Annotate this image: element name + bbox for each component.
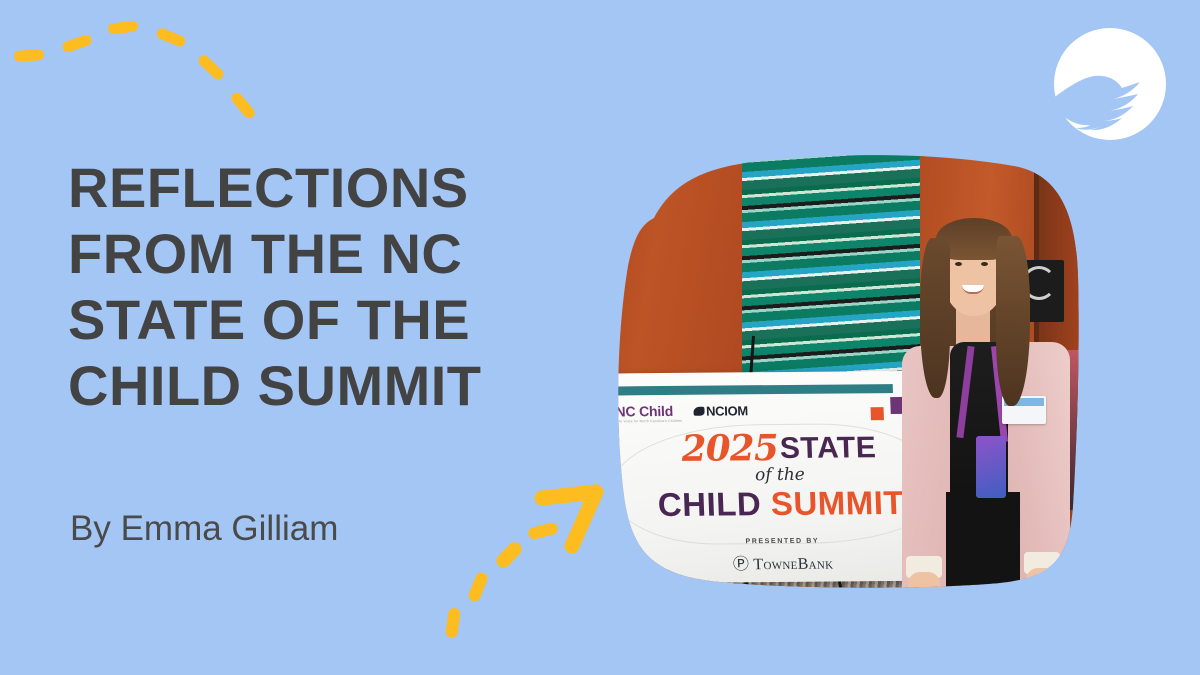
event-photo-image: NC Child The Voice for North Carolina's … bbox=[584, 140, 1080, 590]
sign-state: STATE bbox=[779, 434, 877, 465]
towne-bank-ank: ANK bbox=[808, 560, 833, 572]
page-title: REFLECTIONS FROM THE NC STATE OF THE CHI… bbox=[68, 155, 568, 419]
arc-dash-2 bbox=[61, 33, 93, 53]
headline-line-4: CHILD SUMMIT bbox=[68, 353, 568, 419]
towne-bank-mark-icon: Ⓟ bbox=[733, 556, 750, 573]
arrow-dash-3 bbox=[494, 539, 525, 570]
nc-child-tagline: The Voice for North Carolina's Children bbox=[616, 419, 683, 424]
nciom-logo-text: NCIOM bbox=[706, 403, 748, 418]
lanyard-credential bbox=[976, 436, 1006, 498]
arc-dash-6 bbox=[229, 90, 257, 120]
hand bbox=[1026, 568, 1058, 590]
hair-left-strand bbox=[920, 238, 950, 398]
nciom-mark-icon bbox=[693, 407, 704, 416]
eye bbox=[955, 262, 962, 266]
arc-dash-5 bbox=[196, 53, 225, 82]
poster-canvas: REFLECTIONS FROM THE NC STATE OF THE CHI… bbox=[0, 0, 1200, 675]
arc-dash-4 bbox=[155, 27, 187, 48]
headline-line-2: FROM THE NC bbox=[68, 221, 568, 287]
hand bbox=[908, 572, 940, 590]
arc-dash-3 bbox=[107, 20, 138, 35]
nc-child-logo: NC Child The Voice for North Carolina's … bbox=[615, 403, 682, 424]
sign-year: 2025 bbox=[681, 432, 778, 465]
towne-bank-owne: OWNE bbox=[763, 560, 798, 572]
arrow-dash-2 bbox=[467, 571, 489, 603]
towne-bank-t: T bbox=[753, 556, 764, 573]
person-subject bbox=[884, 200, 1080, 590]
towne-bank-b: B bbox=[797, 556, 809, 573]
sign-logos: NC Child The Voice for North Carolina's … bbox=[615, 402, 748, 423]
sign-child: CHILD bbox=[657, 486, 762, 524]
nciom-logo: NCIOM bbox=[693, 403, 748, 418]
hair-right-strand bbox=[996, 236, 1030, 406]
arrow-dash-1 bbox=[445, 607, 461, 638]
black-pants bbox=[946, 492, 1020, 590]
wing-circle-logo bbox=[1040, 14, 1180, 154]
arc-dash-1 bbox=[14, 49, 45, 62]
byline: By Emma Gilliam bbox=[70, 508, 338, 550]
sign-top-bar bbox=[613, 384, 893, 395]
event-photo: NC Child The Voice for North Carolina's … bbox=[584, 140, 1080, 590]
headline-line-3: STATE OF THE bbox=[68, 287, 568, 353]
headline-line-1: REFLECTIONS bbox=[68, 155, 568, 221]
orange-square-small bbox=[871, 407, 884, 420]
eye bbox=[981, 262, 988, 266]
arrowhead-icon bbox=[534, 478, 624, 558]
nc-child-logo-text: NC Child bbox=[615, 403, 673, 419]
